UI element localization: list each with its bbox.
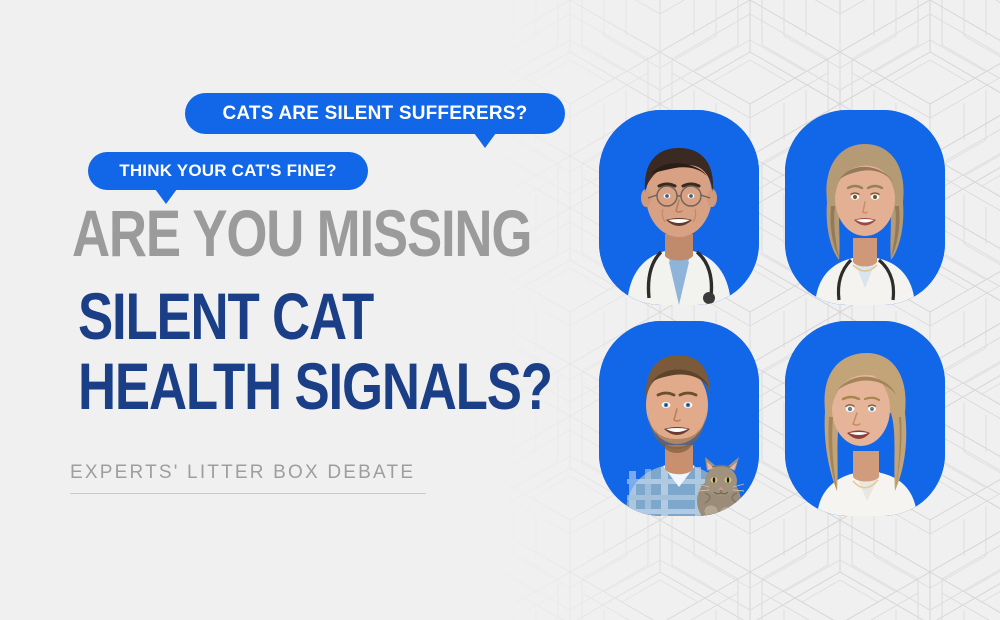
expert-photo-4: [785, 321, 945, 516]
promo-banner: CATS ARE SILENT SUFFERERS? THINK YOUR CA…: [0, 0, 1000, 620]
speech-bubble-1-tail: [474, 133, 496, 148]
headline-line-1: ARE YOU MISSING: [72, 200, 531, 266]
headline-column: CATS ARE SILENT SUFFERERS? THINK YOUR CA…: [0, 0, 600, 620]
portrait-cat-expert-female-blonde: [785, 321, 945, 516]
speech-bubble-2-label: THINK YOUR CAT'S FINE?: [119, 161, 336, 181]
speech-bubble-1-label: CATS ARE SILENT SUFFERERS?: [223, 103, 528, 125]
expert-photo-3: [599, 321, 759, 516]
subtitle-divider: [70, 493, 426, 494]
portrait-vet-female-blonde: [785, 110, 945, 305]
headline-line-3: HEALTH SIGNALS?: [78, 353, 552, 419]
speech-bubble-think-your-cat-is-fine: THINK YOUR CAT'S FINE?: [88, 152, 368, 190]
headline-line-2: SILENT CAT: [78, 283, 373, 349]
subtitle-text: EXPERTS' LITTER BOX DEBATE: [70, 462, 430, 493]
portrait-cat-expert-male-with-cat: [599, 321, 759, 516]
expert-photo-2: [785, 110, 945, 305]
speech-bubble-cats-are-silent-sufferers: CATS ARE SILENT SUFFERERS?: [185, 93, 565, 134]
expert-photo-1: [599, 110, 759, 305]
expert-photo-grid: [596, 108, 946, 514]
portrait-vet-male-glasses: [599, 110, 759, 305]
subtitle-block: EXPERTS' LITTER BOX DEBATE: [70, 462, 430, 494]
